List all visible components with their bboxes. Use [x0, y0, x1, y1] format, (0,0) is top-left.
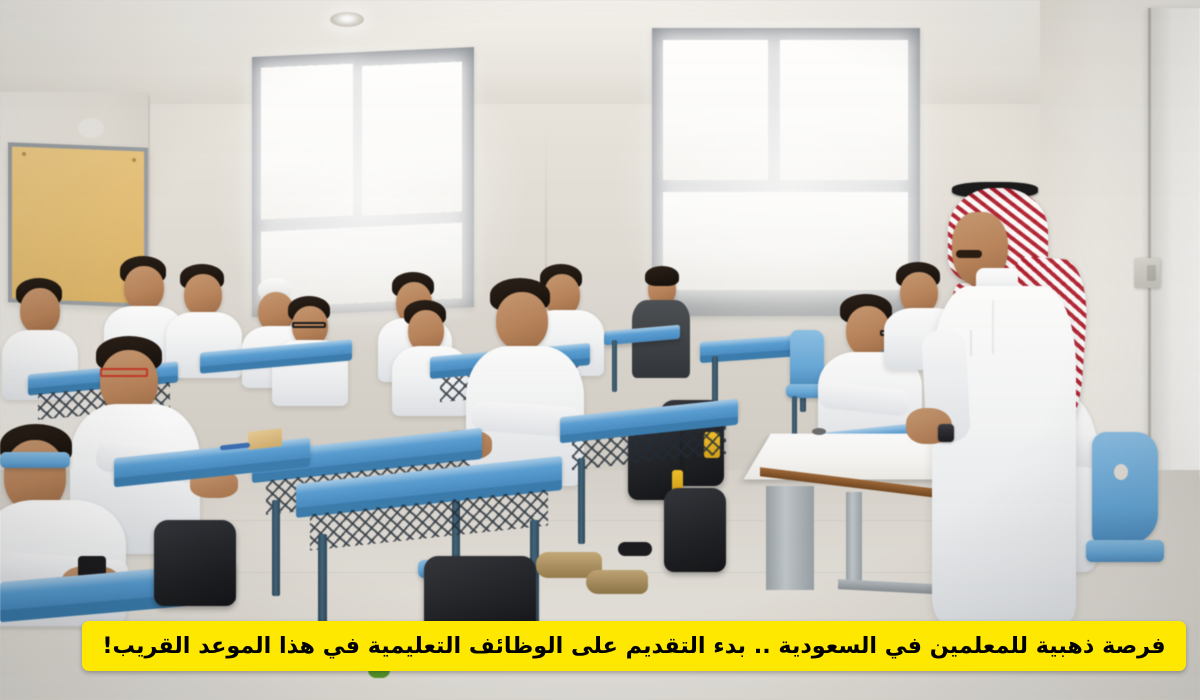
- right-window: [652, 28, 920, 316]
- desk-leg: [272, 500, 280, 596]
- hair: [645, 266, 679, 286]
- news-image: فرصة ذهبية للمعلمين في السعودية .. بدء ا…: [0, 0, 1200, 700]
- thobe-pocket-seam: [970, 330, 972, 356]
- head: [496, 292, 548, 350]
- classroom-photo: [0, 0, 1200, 700]
- window-pane: [663, 40, 768, 180]
- window-pane: [261, 223, 462, 308]
- desk-leg: [612, 340, 617, 392]
- bulletin-board-stain: [78, 118, 104, 138]
- chair-seat: [1086, 540, 1164, 562]
- window-pane: [362, 62, 462, 217]
- caption-text: فرصة ذهبية للمعلمين في السعودية .. بدء ا…: [96, 635, 1171, 657]
- shoe: [586, 570, 648, 594]
- teacher-desk-leg: [766, 486, 814, 590]
- pin-icon: [132, 158, 136, 162]
- backpack: [664, 488, 726, 572]
- eyeglasses-red: [100, 368, 148, 377]
- desk-cable-grommet: [812, 428, 826, 435]
- shoe: [618, 542, 652, 556]
- caption-banner: فرصة ذهبية للمعلمين في السعودية .. بدء ا…: [82, 621, 1186, 671]
- head: [184, 274, 222, 316]
- window-pane: [663, 192, 908, 290]
- moustache: [956, 250, 982, 258]
- chair-handle-hole: [1114, 464, 1128, 480]
- chair-seat: [0, 452, 70, 468]
- eyeglasses: [292, 322, 326, 328]
- head: [20, 288, 60, 334]
- window-pane: [261, 63, 353, 219]
- teacher-chair: [1092, 432, 1158, 544]
- wall-socket: [1134, 258, 1160, 288]
- pin-icon: [22, 152, 26, 156]
- whiteboard: [1148, 8, 1200, 478]
- wristwatch: [938, 424, 954, 442]
- backpack: [154, 520, 236, 606]
- left-window: [252, 47, 474, 317]
- thobe-placket: [992, 300, 994, 354]
- notebook: [248, 428, 282, 450]
- desk-leg: [578, 458, 585, 544]
- window-pane: [780, 40, 908, 180]
- ceiling-downlight-icon: [330, 12, 364, 27]
- head: [124, 266, 164, 310]
- ceiling: [0, 0, 1200, 118]
- teacher-desk-leg: [846, 492, 862, 584]
- desk-leg: [318, 534, 327, 634]
